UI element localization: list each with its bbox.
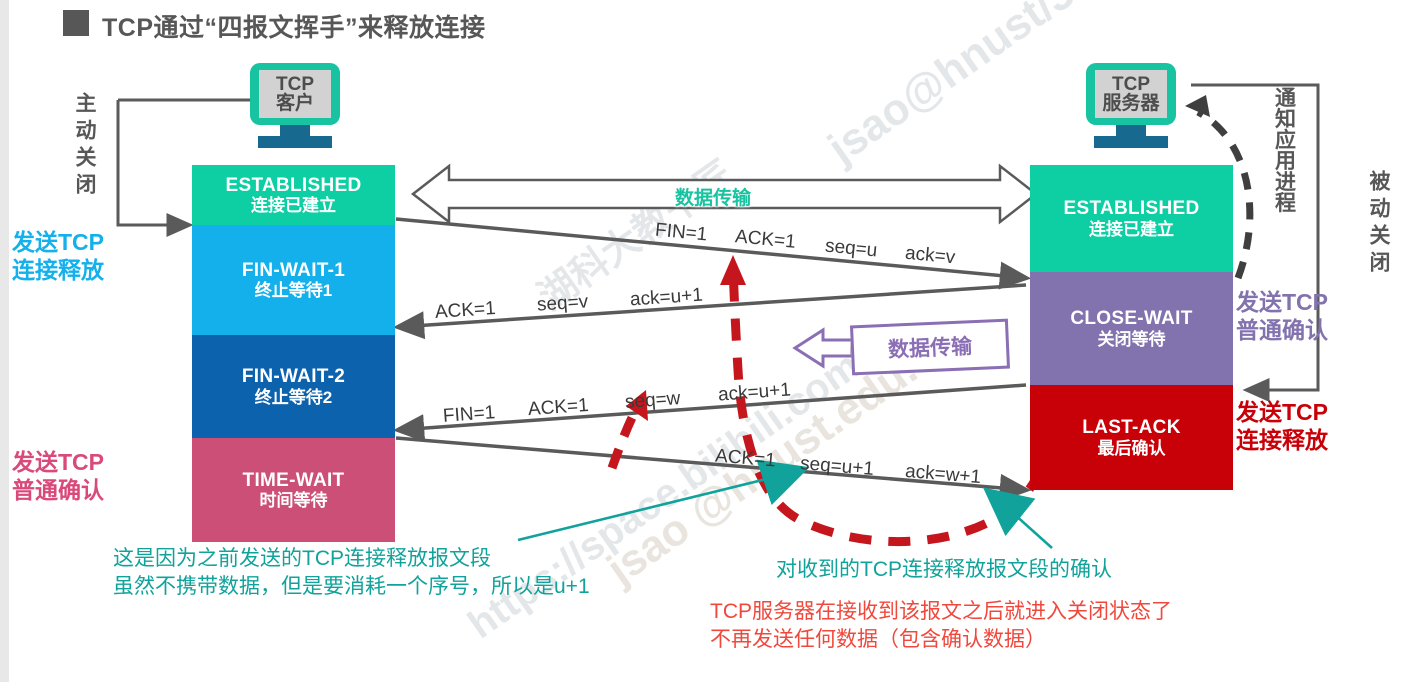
right-caption-plain-ack: 发送TCP 普通确认 — [1236, 288, 1328, 344]
client-state-fin-wait-2-cn: 终止等待2 — [255, 388, 332, 407]
server-state-last-ack-cn: 最后确认 — [1098, 439, 1166, 458]
right-caption-fin-release-l1: 发送TCP — [1236, 398, 1328, 426]
server-screen-inner: TCP 服务器 — [1095, 70, 1167, 118]
client-stand-neck — [280, 125, 310, 136]
left-caption-fin-release: 发送TCP 连接释放 — [12, 228, 104, 284]
note-teal-right: 对收到的TCP连接释放报文段的确认 — [776, 556, 1112, 584]
client-screen-inner: TCP 客户 — [259, 70, 331, 118]
right-caption-plain-ack-l1: 发送TCP — [1236, 288, 1328, 316]
right-caption-fin-release-l2: 连接释放 — [1236, 426, 1328, 454]
server-state-close-wait: CLOSE-WAIT 关闭等待 — [1030, 272, 1233, 385]
left-caption-plain-ack-l2: 普通确认 — [12, 476, 104, 504]
segment-ack1-part1: seq=v — [536, 291, 589, 316]
segment-fin1-part3: ack=v — [904, 243, 956, 270]
client-state-established-cn: 连接已建立 — [251, 196, 336, 215]
note-red-right-l1: TCP服务器在接收到该报文之后就进入关闭状态了 — [710, 598, 1172, 626]
client-state-established: ESTABLISHED 连接已建立 — [192, 165, 395, 225]
teal-annotation-pointer-left — [518, 470, 801, 540]
server-state-last-ack-en: LAST-ACK — [1082, 417, 1180, 438]
segment-ack1-part0: ACK=1 — [434, 298, 496, 324]
server-stand-neck — [1116, 125, 1146, 136]
note-red-right-l2: 不再发送任何数据（包含确认数据） — [710, 626, 1172, 654]
segment-fin2-part0: FIN=1 — [442, 402, 496, 428]
client-stand-base — [258, 136, 332, 148]
left-caption-plain-ack: 发送TCP 普通确认 — [12, 448, 104, 504]
note-teal-left: 这是因为之前发送的TCP连接释放报文段 虽然不携带数据，但是要消耗一个序号，所以… — [113, 545, 590, 602]
left-caption-plain-ack-l1: 发送TCP — [12, 448, 104, 476]
right-caption-fin-release: 发送TCP 连接释放 — [1236, 398, 1328, 454]
server-label-line1: TCP — [1112, 75, 1150, 94]
client-state-fin-wait-2-en: FIN-WAIT-2 — [242, 366, 345, 387]
server-state-close-wait-en: CLOSE-WAIT — [1070, 308, 1192, 329]
server-label-line2: 服务器 — [1102, 94, 1159, 113]
client-state-time-wait-en: TIME-WAIT — [243, 470, 345, 491]
note-teal-left-l1: 这是因为之前发送的TCP连接释放报文段 — [113, 545, 590, 573]
server-state-established: ESTABLISHED 连接已建立 — [1030, 165, 1233, 272]
client-state-established-en: ESTABLISHED — [226, 175, 362, 196]
mid-data-transfer-arrow-icon — [795, 330, 852, 366]
right-caption-plain-ack-l2: 普通确认 — [1236, 316, 1328, 344]
client-state-fin-wait-1-cn: 终止等待1 — [255, 281, 332, 300]
tcp-server-icon: TCP 服务器 — [1086, 63, 1176, 148]
left-caption-fin-release-l2: 连接释放 — [12, 256, 104, 284]
client-state-fin-wait-2: FIN-WAIT-2 终止等待2 — [192, 335, 395, 438]
server-state-established-en: ESTABLISHED — [1064, 198, 1200, 219]
client-state-fin-wait-1: FIN-WAIT-1 终止等待1 — [192, 225, 395, 335]
diagram-canvas: jsao@hnust/360996402 https://space.bilib… — [0, 0, 1428, 682]
client-state-fin-wait-1-en: FIN-WAIT-1 — [242, 260, 345, 281]
note-teal-left-l2: 虽然不携带数据，但是要消耗一个序号，所以是u+1 — [113, 573, 590, 601]
server-stand-base — [1094, 136, 1168, 148]
left-caption-fin-release-l1: 发送TCP — [12, 228, 104, 256]
client-state-time-wait: TIME-WAIT 时间等待 — [192, 438, 395, 542]
passive-close-label: 被动关闭 — [1368, 170, 1389, 278]
server-state-last-ack: LAST-ACK 最后确认 — [1030, 385, 1233, 490]
mid-data-transfer-label: 数据传输 — [887, 330, 972, 364]
notify-app-label: 通知应用进程 — [1275, 88, 1315, 214]
client-state-time-wait-cn: 时间等待 — [260, 491, 328, 510]
active-close-label: 主动关闭 — [74, 92, 95, 200]
server-screen: TCP 服务器 — [1086, 63, 1176, 125]
teal-annotation-pointer-right — [990, 493, 1052, 548]
top-data-transfer-label: 数据传输 — [675, 183, 751, 210]
tcp-client-icon: TCP 客户 — [250, 63, 340, 148]
segment-fin2-part2: seq=w — [624, 388, 681, 414]
segment-fin2-part1: ACK=1 — [527, 395, 589, 421]
mid-data-transfer-box: 数据传输 — [850, 319, 1010, 376]
server-state-close-wait-cn: 关闭等待 — [1098, 330, 1166, 349]
client-label-line2: 客户 — [276, 94, 314, 113]
note-red-right: TCP服务器在接收到该报文之后就进入关闭状态了 不再发送任何数据（包含确认数据） — [710, 598, 1172, 655]
client-screen: TCP 客户 — [250, 63, 340, 125]
server-state-established-cn: 连接已建立 — [1089, 220, 1174, 239]
client-label-line1: TCP — [276, 75, 314, 94]
note-teal-right-l1: 对收到的TCP连接释放报文段的确认 — [776, 556, 1112, 584]
